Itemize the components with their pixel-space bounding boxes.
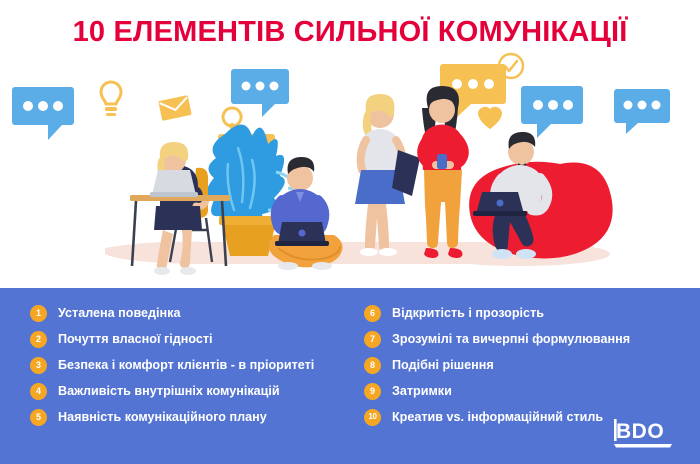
illustration (0, 52, 700, 288)
bdo-logo-underline (614, 444, 672, 448)
list-item-label: Зрозумілі та вичерпні формулювання (392, 332, 630, 346)
list-item-label: Безпека і комфорт клієнтів - в пріоритет… (58, 358, 314, 372)
list-column-right: 6 Відкритість і прозорість 7 Зрозумілі т… (364, 301, 694, 431)
lightbulb-icon (101, 82, 121, 116)
speech-bubble-blue-left (12, 87, 74, 140)
woman-standing-folder (355, 94, 420, 256)
speech-bubble-blue-right (521, 86, 583, 138)
item-number-badge: 10 (364, 409, 381, 426)
list-item[interactable]: 8 Подібні рішення (364, 353, 694, 377)
list-item[interactable]: 4 Важливість внутрішніх комунікацій (30, 379, 360, 403)
item-number-badge: 7 (364, 331, 381, 348)
page-title: 10 ЕЛЕМЕНТІВ СИЛЬНОЇ КОМУНІКАЦІЇ (0, 16, 700, 49)
bdo-logo: BDO (610, 418, 682, 452)
speech-bubble-blue-far-right (614, 89, 670, 134)
heart-icon (478, 107, 502, 129)
list-item-label: Подібні рішення (392, 358, 494, 372)
list-item[interactable]: 1 Усталена поведінка (30, 301, 360, 325)
item-number-badge: 9 (364, 383, 381, 400)
list-item-label: Затримки (392, 384, 452, 398)
list-item-label: Почуття власної гідності (58, 332, 213, 346)
list-item-label: Наявність комунікаційного плану (58, 410, 267, 424)
bdo-logo-text: BDO (616, 420, 664, 443)
list-item[interactable]: 7 Зрозумілі та вичерпні формулювання (364, 327, 694, 351)
list-item-label: Усталена поведінка (58, 306, 180, 320)
envelope-icon (158, 95, 192, 121)
item-number-badge: 8 (364, 357, 381, 374)
item-number-badge: 5 (30, 409, 47, 426)
item-number-badge: 6 (364, 305, 381, 322)
item-number-badge: 3 (30, 357, 47, 374)
item-number-badge: 2 (30, 331, 47, 348)
item-number-badge: 1 (30, 305, 47, 322)
list-item[interactable]: 2 Почуття власної гідності (30, 327, 360, 351)
item-number-badge: 4 (30, 383, 47, 400)
bdo-logo-vertical-bar (614, 419, 617, 441)
list-item[interactable]: 5 Наявність комунікаційного плану (30, 405, 360, 429)
list-column-left: 1 Усталена поведінка 2 Почуття власної г… (30, 301, 360, 431)
list-item[interactable]: 6 Відкритість і прозорість (364, 301, 694, 325)
list-item[interactable]: 9 Затримки (364, 379, 694, 403)
list-item-label: Креатив vs. інформаційний стиль (392, 410, 603, 424)
infographic-poster: 10 ЕЛЕМЕНТІВ СИЛЬНОЇ КОМУНІКАЦІЇ (0, 0, 700, 464)
list-item-label: Важливість внутрішніх комунікацій (58, 384, 280, 398)
list-panel: 1 Усталена поведінка 2 Почуття власної г… (0, 288, 700, 464)
list-item-label: Відкритість і прозорість (392, 306, 544, 320)
list-item[interactable]: 3 Безпека і комфорт клієнтів - в пріорит… (30, 353, 360, 377)
